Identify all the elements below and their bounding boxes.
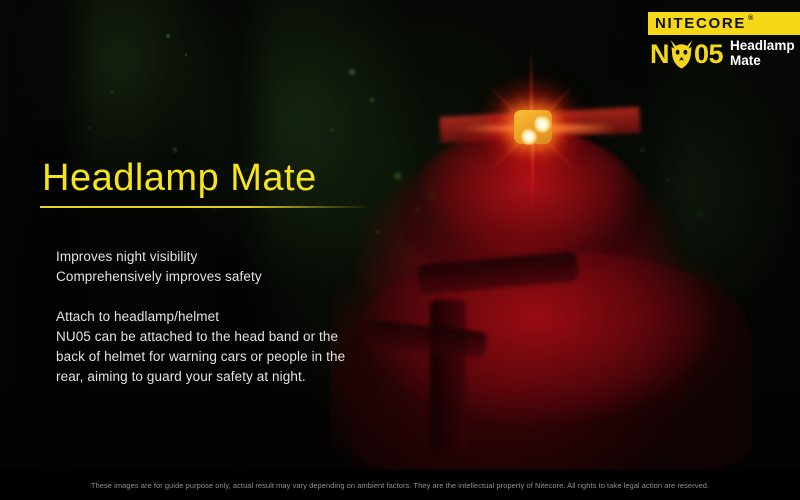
usage-line-3: rear, aiming to guard your safety at nig…	[56, 367, 416, 387]
paragraph-spacer	[56, 287, 416, 307]
description-block: Improves night visibility Comprehensivel…	[56, 247, 416, 387]
brand-block: NITECORE ® N 05 Headlamp Mate	[648, 12, 800, 69]
model-suffix: 05	[694, 41, 723, 68]
benefit-line-1: Improves night visibility	[56, 247, 416, 267]
model-tagline-line-2: Mate	[730, 53, 795, 68]
usage-heading: Attach to headlamp/helmet	[56, 307, 416, 327]
model-name: N 05	[650, 39, 723, 68]
nu05-light	[470, 72, 610, 192]
model-prefix: N	[650, 41, 669, 68]
nitecore-logo-bar: NITECORE ®	[648, 12, 800, 35]
product-slide: Headlamp Mate Improves night visibility …	[0, 0, 800, 500]
benefit-line-2: Comprehensively improves safety	[56, 267, 416, 287]
registered-trademark-icon: ®	[748, 15, 753, 22]
title-underline-rule	[40, 206, 372, 208]
led-emitter	[534, 116, 551, 133]
model-tagline-line-1: Headlamp	[730, 38, 795, 53]
usage-line-2: back of helmet for warning cars or peopl…	[56, 347, 416, 367]
brand-name: NITECORE	[655, 16, 746, 31]
page-title: Headlamp Mate	[42, 159, 317, 197]
model-block: N 05 Headlamp Mate	[648, 35, 800, 69]
usage-line-1: NU05 can be attached to the head band or…	[56, 327, 416, 347]
footer-bar: These images are for guide purpose only,…	[0, 470, 800, 500]
legal-disclaimer: These images are for guide purpose only,…	[91, 481, 709, 490]
backpack-strap-vertical	[430, 300, 466, 450]
background-photo	[0, 0, 800, 470]
bull-head-icon	[669, 39, 694, 69]
model-tagline: Headlamp Mate	[730, 38, 795, 69]
led-emitter	[521, 129, 537, 145]
